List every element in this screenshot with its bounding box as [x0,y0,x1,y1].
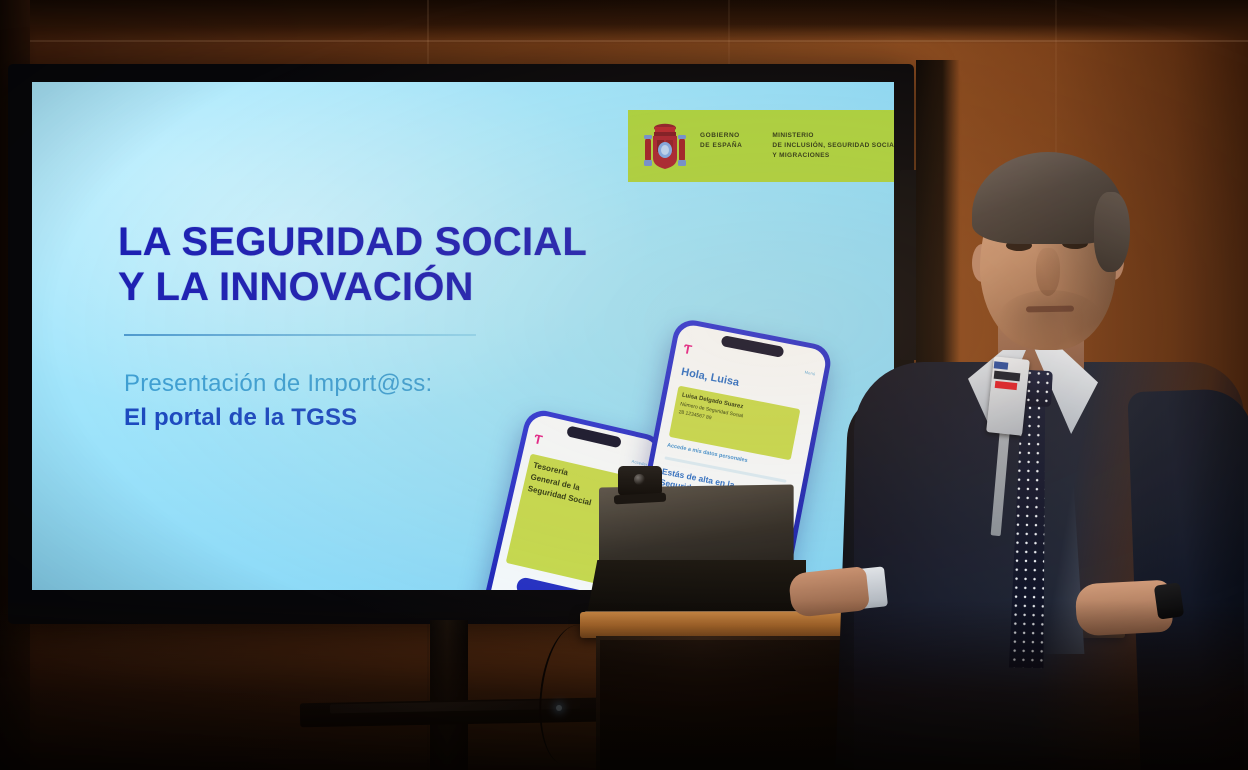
screenshot-root: GOBIERNO DE ESPAÑA MINISTERIO DE INCLUSI… [0,0,1248,770]
image-vignette [0,0,1248,770]
